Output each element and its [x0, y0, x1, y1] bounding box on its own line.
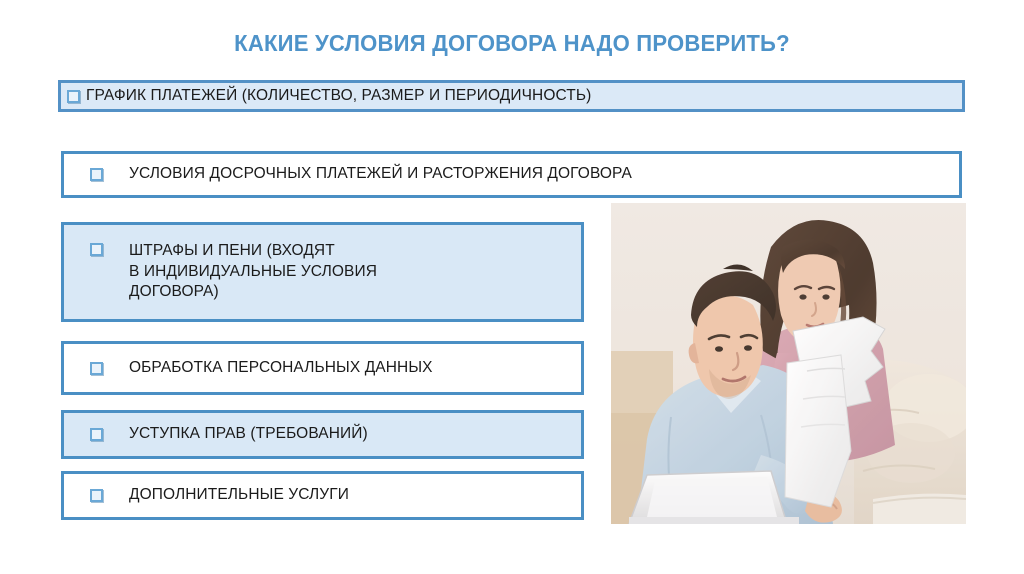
square-bullet-icon	[90, 489, 103, 502]
list-item-label: ОБРАБОТКА ПЕРСОНАЛЬНЫХ ДАННЫХ	[129, 358, 433, 379]
list-item-assignment-of-rights[interactable]: УСТУПКА ПРАВ (ТРЕБОВАНИЙ)	[61, 410, 584, 459]
list-item-label: УСТУПКА ПРАВ (ТРЕБОВАНИЙ)	[129, 424, 368, 445]
list-item-penalties-and-fines[interactable]: ШТРАФЫ И ПЕНИ (ВХОДЯТ В ИНДИВИДУАЛЬНЫЕ У…	[61, 222, 584, 322]
list-item-label: ШТРАФЫ И ПЕНИ (ВХОДЯТ В ИНДИВИДУАЛЬНЫЕ У…	[129, 241, 377, 304]
list-item-early-payment-terms[interactable]: УСЛОВИЯ ДОСРОЧНЫХ ПЛАТЕЖЕЙ И РАСТОРЖЕНИЯ…	[61, 151, 962, 198]
list-item-label: ГРАФИК ПЛАТЕЖЕЙ (КОЛИЧЕСТВО, РАЗМЕР И ПЕ…	[86, 86, 591, 107]
square-bullet-icon	[90, 243, 103, 256]
list-item-additional-services[interactable]: ДОПОЛНИТЕЛЬНЫЕ УСЛУГИ	[61, 471, 584, 520]
square-bullet-icon	[90, 168, 103, 181]
slide-canvas: КАКИЕ УСЛОВИЯ ДОГОВОРА НАДО ПРОВЕРИТЬ? Г…	[0, 0, 1024, 574]
page-title: КАКИЕ УСЛОВИЯ ДОГОВОРА НАДО ПРОВЕРИТЬ?	[20, 30, 1003, 57]
couple-reviewing-documents-photo	[611, 203, 966, 524]
list-item-label: УСЛОВИЯ ДОСРОЧНЫХ ПЛАТЕЖЕЙ И РАСТОРЖЕНИЯ…	[129, 164, 632, 185]
list-item-label: ДОПОЛНИТЕЛЬНЫЕ УСЛУГИ	[129, 485, 349, 506]
list-item-personal-data-processing[interactable]: ОБРАБОТКА ПЕРСОНАЛЬНЫХ ДАННЫХ	[61, 341, 584, 395]
list-item-payment-schedule[interactable]: ГРАФИК ПЛАТЕЖЕЙ (КОЛИЧЕСТВО, РАЗМЕР И ПЕ…	[58, 80, 965, 112]
square-bullet-icon	[67, 90, 80, 103]
square-bullet-icon	[90, 362, 103, 375]
square-bullet-icon	[90, 428, 103, 441]
